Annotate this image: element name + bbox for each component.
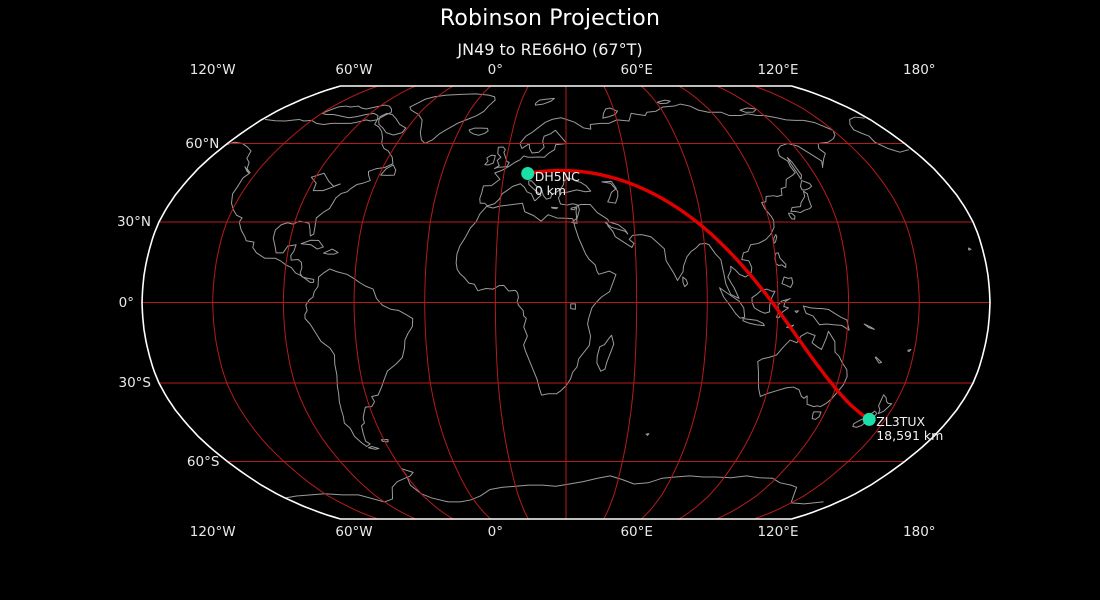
lon-tick-top-5: 120°W (190, 62, 236, 78)
lon-tick-bottom-5: 120°W (190, 524, 236, 540)
lon-tick-bottom-0: 60°W (335, 524, 372, 540)
lon-tick-top-2: 60°E (620, 62, 652, 78)
lat-tick-3: 30°S (119, 375, 152, 391)
lat-tick-0: 60°N (185, 136, 219, 152)
endpoint-marker-zl3tux[interactable] (863, 413, 876, 426)
lon-tick-top-3: 120°E (757, 62, 798, 78)
lon-tick-bottom-1: 0° (488, 524, 503, 540)
lon-tick-bottom-2: 60°E (620, 524, 652, 540)
lat-tick-1: 30°N (117, 214, 151, 230)
lon-tick-top-4: 180° (903, 62, 936, 78)
graticule-grid (142, 86, 990, 519)
map-figure: Robinson Projection JN49 to RE66HO (67°T… (0, 0, 1100, 600)
world-map-canvas (0, 0, 1100, 600)
lon-tick-top-0: 60°W (335, 62, 372, 78)
endpoint-marker-dh5nc[interactable] (521, 167, 534, 180)
lon-tick-bottom-3: 120°E (757, 524, 798, 540)
lat-tick-4: 60°S (187, 454, 220, 470)
lon-tick-top-1: 0° (488, 62, 503, 78)
lon-tick-bottom-4: 180° (903, 524, 936, 540)
lat-tick-2: 0° (119, 295, 134, 311)
land-coastlines (226, 94, 971, 504)
